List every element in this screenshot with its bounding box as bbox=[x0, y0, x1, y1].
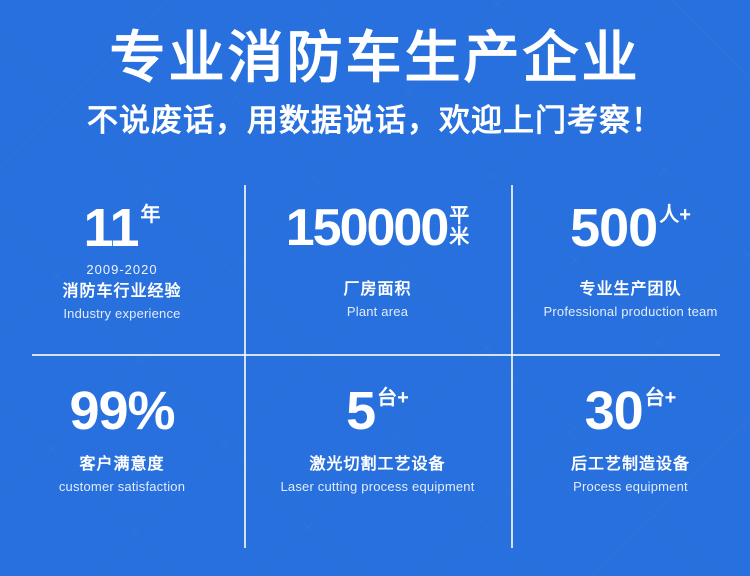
stat-label-en: Plant area bbox=[347, 303, 408, 321]
stat-label-cn: 客户满意度 bbox=[79, 454, 164, 476]
stat-value: 150000 平 米 bbox=[286, 199, 470, 257]
stat-unit: 年 bbox=[139, 199, 161, 226]
stat-unit: 人+ bbox=[657, 199, 691, 226]
stat-value: 11 年 bbox=[83, 199, 160, 257]
stat-label-en: customer satisfaction bbox=[59, 478, 185, 496]
stat-number: 99% bbox=[69, 382, 174, 440]
stat-sub-range: 2009-2020 bbox=[86, 261, 157, 278]
stat-label-cn: 专业生产团队 bbox=[579, 279, 681, 301]
stat-value: 99% bbox=[69, 382, 174, 440]
stat-number: 5 bbox=[346, 382, 375, 440]
page-title: 专业消防车生产企业 bbox=[0, 0, 750, 90]
stat-value: 30 台+ bbox=[585, 382, 677, 440]
stat-unit-char-2: 米 bbox=[449, 227, 469, 248]
stat-cell-process-equipment: 30 台+ 后工艺制造设备 Process equipment bbox=[511, 354, 750, 550]
stat-number: 500 bbox=[570, 199, 657, 257]
stat-label-en: Laser cutting process equipment bbox=[280, 478, 474, 496]
stat-number: 150000 bbox=[286, 199, 448, 257]
stat-cell-plant-area: 150000 平 米 厂房面积 Plant area bbox=[244, 185, 511, 354]
stat-label-en: Process equipment bbox=[573, 478, 688, 496]
stats-grid: 11 年 2009-2020 消防车行业经验 Industry experien… bbox=[0, 185, 750, 550]
stat-label-cn: 消防车行业经验 bbox=[62, 281, 181, 303]
stat-unit-char-1: 平 bbox=[449, 206, 469, 227]
banner-header: 专业消防车生产企业 不说废话，用数据说话，欢迎上门考察！ bbox=[0, 0, 750, 140]
stat-unit: 台+ bbox=[643, 382, 677, 409]
stat-cell-laser-cutting-equipment: 5 台+ 激光切割工艺设备 Laser cutting process equi… bbox=[244, 354, 511, 550]
stat-number: 11 bbox=[83, 199, 138, 257]
stat-label-cn: 激光切割工艺设备 bbox=[309, 454, 445, 476]
stat-cell-production-team: 500 人+ 专业生产团队 Professional production te… bbox=[511, 185, 750, 354]
stat-cell-industry-experience: 11 年 2009-2020 消防车行业经验 Industry experien… bbox=[0, 185, 244, 354]
stat-label-en: Industry experience bbox=[63, 305, 180, 323]
promo-banner: 专业消防车生产企业 不说废话，用数据说话，欢迎上门考察！ 11 年 2009-2… bbox=[0, 0, 750, 576]
stat-label-cn: 后工艺制造设备 bbox=[571, 454, 690, 476]
stat-label-cn: 厂房面积 bbox=[343, 279, 411, 301]
stat-value: 5 台+ bbox=[346, 382, 409, 440]
stat-cell-customer-satisfaction: 99% 客户满意度 customer satisfaction bbox=[0, 354, 244, 550]
stat-value: 500 人+ bbox=[570, 199, 691, 257]
stat-unit: 台+ bbox=[375, 382, 409, 409]
stat-number: 30 bbox=[585, 382, 643, 440]
stat-unit: 平 米 bbox=[447, 199, 469, 248]
stat-label-en: Professional production team bbox=[544, 303, 718, 321]
page-subtitle: 不说废话，用数据说话，欢迎上门考察！ bbox=[0, 90, 750, 140]
